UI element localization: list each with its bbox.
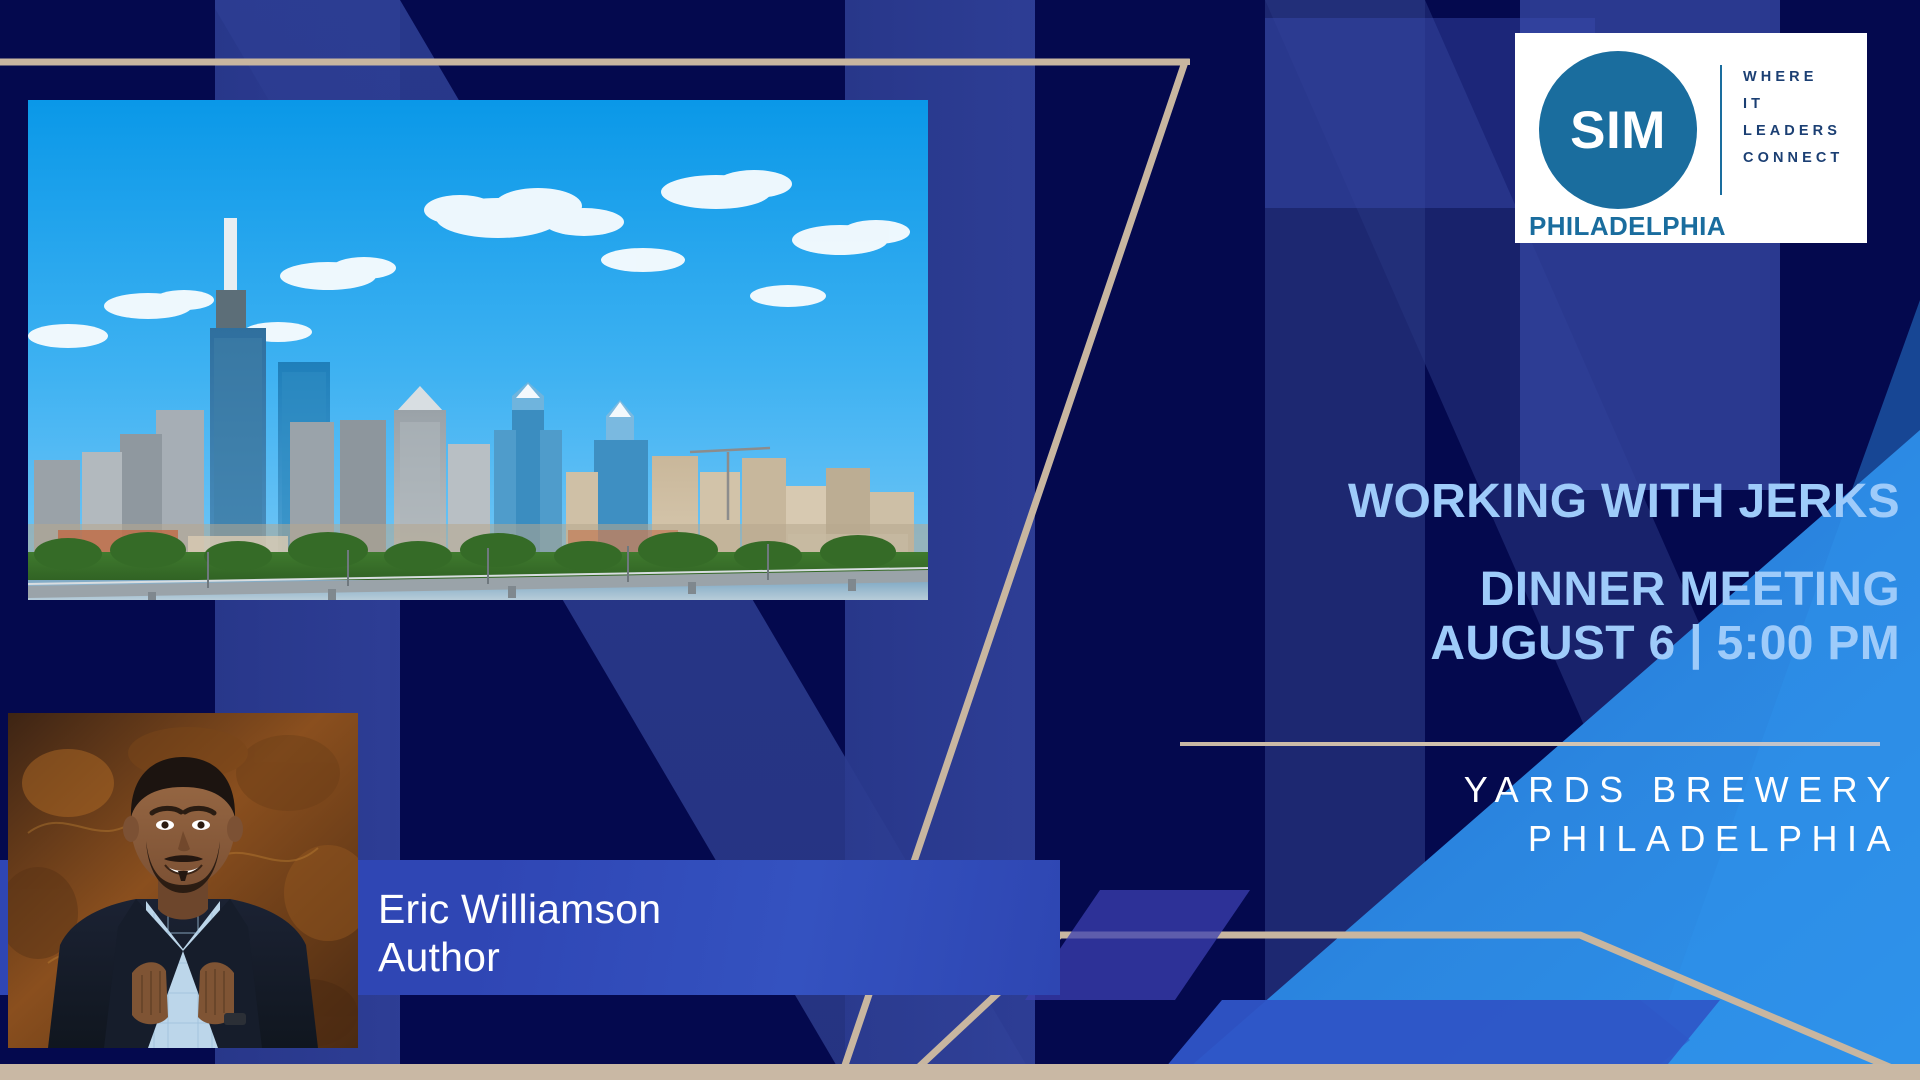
event-date-time: AUGUST 6 | 5:00 PM	[1100, 620, 1900, 668]
speaker-name: Eric Williamson	[378, 885, 978, 933]
logo-tagline: WHERE IT LEADERS CONNECT	[1743, 64, 1843, 172]
sim-philadelphia-logo: SIM WHERE IT LEADERS CONNECT PHILADELPHI…	[1515, 33, 1867, 243]
logo-tagline-line-3: LEADERS	[1743, 118, 1843, 145]
venue-name: YARDS BREWERY	[1080, 766, 1900, 815]
venue-city: PHILADELPHIA	[1080, 815, 1900, 864]
logo-tagline-line-1: WHERE	[1743, 64, 1843, 91]
philadelphia-skyline-photo	[28, 100, 928, 600]
portrait-illustration	[8, 713, 358, 1048]
event-poster: Eric Williamson Author SIM WHERE IT LEAD…	[0, 0, 1920, 1080]
event-details: WORKING WITH JERKS DINNER MEETING AUGUST…	[1100, 478, 1900, 668]
logo-chapter-name: PHILADELPHIA	[1529, 211, 1726, 242]
speaker-info: Eric Williamson Author	[378, 885, 978, 982]
event-venue: YARDS BREWERY PHILADELPHIA	[1080, 766, 1900, 864]
skyline-illustration	[28, 100, 928, 600]
event-title: WORKING WITH JERKS	[1100, 478, 1900, 526]
logo-tagline-line-4: CONNECT	[1743, 145, 1843, 172]
logo-divider	[1720, 65, 1722, 195]
logo-tagline-line-2: IT	[1743, 91, 1843, 118]
sim-logo-text: SIM	[1539, 51, 1697, 209]
eric-williamson-portrait	[8, 713, 358, 1048]
speaker-role: Author	[378, 933, 978, 981]
event-subtitle: DINNER MEETING	[1100, 566, 1900, 614]
event-divider	[1180, 742, 1880, 746]
